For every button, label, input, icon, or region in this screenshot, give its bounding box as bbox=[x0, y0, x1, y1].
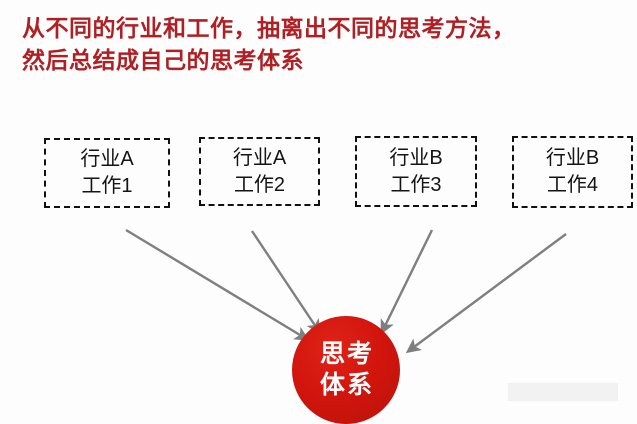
source-box-line-2: 工作4 bbox=[547, 172, 598, 199]
source-box-line-2: 工作3 bbox=[390, 172, 441, 199]
title-line-2: 然后总结成自己的思考体系 bbox=[22, 44, 622, 76]
source-box-industry-a-job-1[interactable]: 行业A 工作1 bbox=[44, 138, 170, 208]
source-box-line-1: 行业A bbox=[80, 146, 133, 173]
hub-node-thinking-system[interactable]: 思考 体系 bbox=[292, 316, 400, 424]
arrow-box-3-to-hub bbox=[410, 234, 566, 350]
source-box-industry-a-job-2[interactable]: 行业A 工作2 bbox=[199, 137, 320, 206]
source-box-line-1: 行业B bbox=[546, 145, 599, 172]
source-box-industry-b-job-3[interactable]: 行业B 工作3 bbox=[355, 136, 477, 207]
page-title: 从不同的行业和工作，抽离出不同的思考方法， 然后总结成自己的思考体系 bbox=[22, 12, 622, 76]
watermark-block bbox=[508, 383, 618, 401]
arrow-box-1-to-hub bbox=[252, 231, 318, 330]
source-box-industry-b-job-4[interactable]: 行业B 工作4 bbox=[512, 136, 633, 208]
source-box-line-1: 行业B bbox=[389, 145, 442, 172]
source-box-line-2: 工作2 bbox=[234, 172, 285, 199]
source-box-line-2: 工作1 bbox=[81, 173, 132, 200]
title-line-1: 从不同的行业和工作，抽离出不同的思考方法， bbox=[22, 12, 622, 44]
arrow-box-2-to-hub bbox=[383, 230, 432, 330]
source-box-line-1: 行业A bbox=[233, 145, 286, 172]
arrow-box-0-to-hub bbox=[126, 230, 305, 338]
hub-line-2: 体系 bbox=[318, 370, 374, 401]
hub-line-1: 思考 bbox=[318, 339, 374, 370]
diagram-canvas: 从不同的行业和工作，抽离出不同的思考方法， 然后总结成自己的思考体系 行业A 工… bbox=[0, 0, 637, 424]
